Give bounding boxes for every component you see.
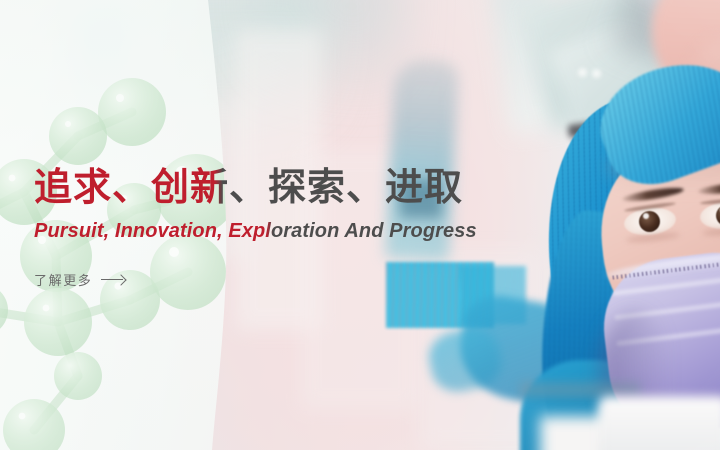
hero-text-block: 追求、创新、探索、进取 Pursuit, Innovation, Explora… xyxy=(34,166,694,290)
arrow-right-icon xyxy=(101,274,125,284)
learn-more-label: 了解更多 xyxy=(34,270,92,289)
page-title: 追求、创新、探索、进取 xyxy=(34,166,694,211)
page-subtitle: Pursuit, Innovation, Exploration And Pro… xyxy=(34,219,694,244)
learn-more-link[interactable]: 了解更多 xyxy=(34,270,125,289)
hero-banner: 追求、创新、探索、进取 Pursuit, Innovation, Explora… xyxy=(0,0,720,450)
